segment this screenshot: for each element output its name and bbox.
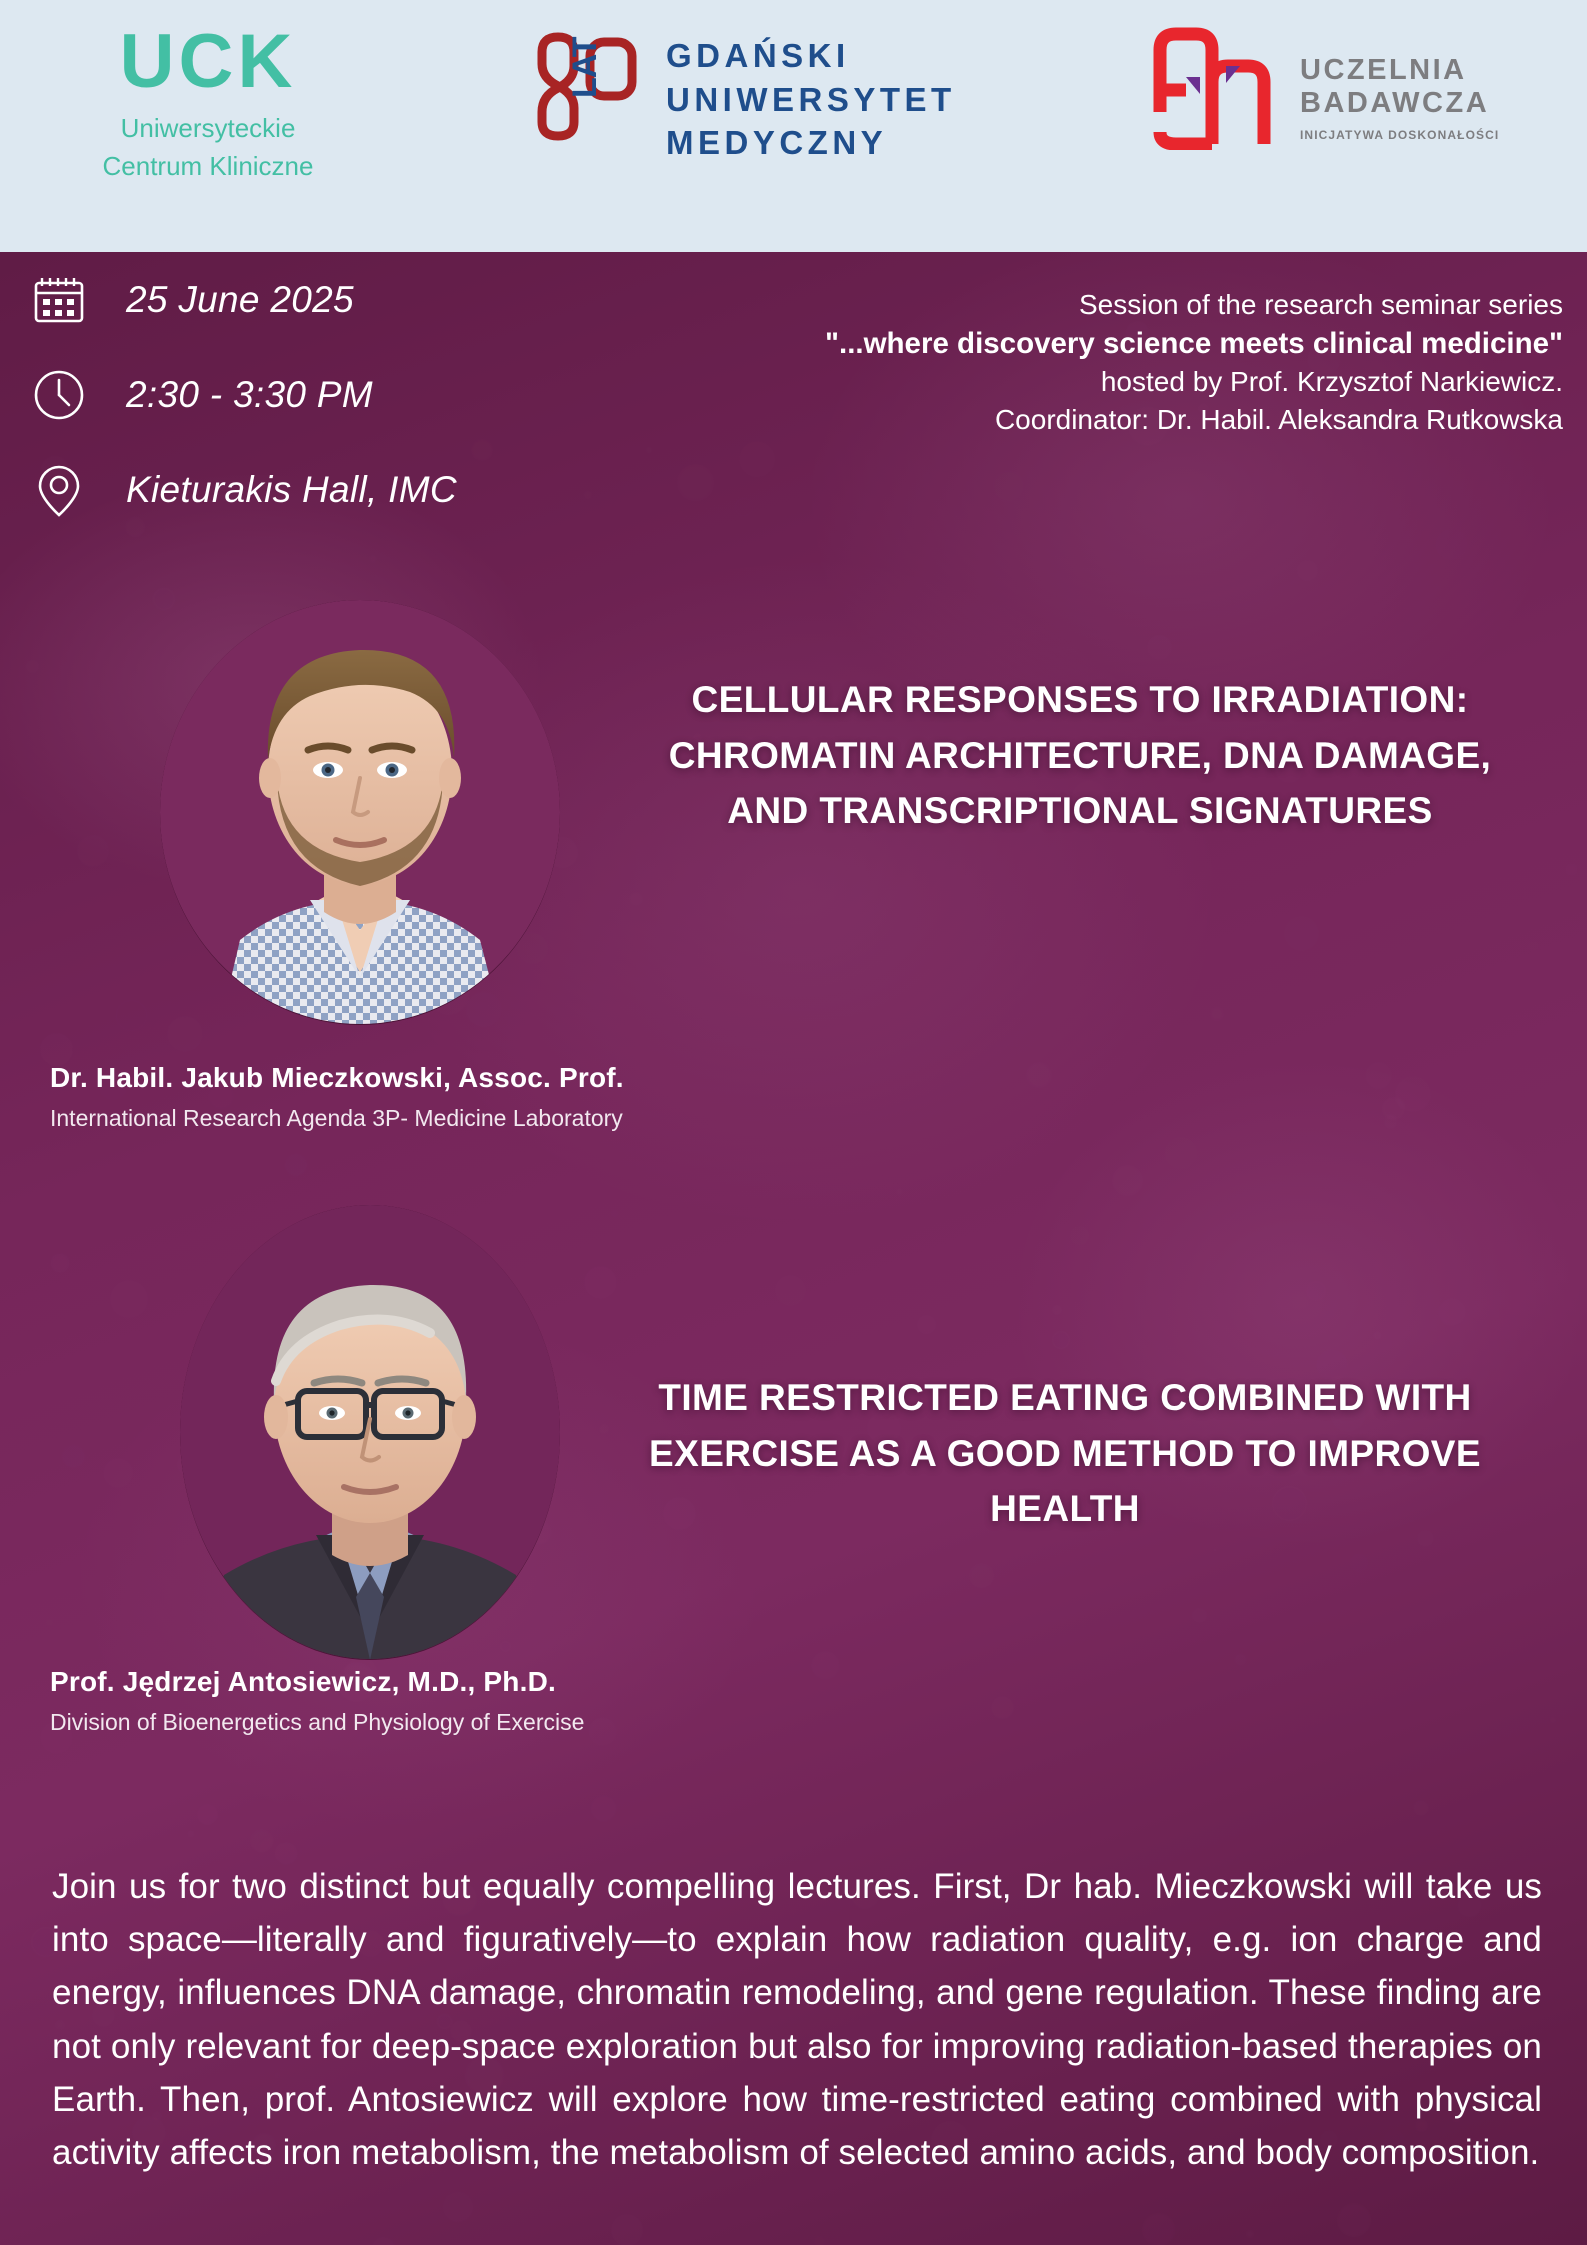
logo-gumed: LAT GDAŃSKI UNIWERSYTET MEDYCZNY — [528, 30, 956, 165]
uck-wordmark: UCK — [78, 26, 338, 98]
seminar-series-label: Session of the research seminar series — [613, 286, 1563, 324]
uck-subtitle: Uniwersyteckie Centrum Kliniczne — [78, 110, 338, 185]
seminar-poster: UCK Uniwersyteckie Centrum Kliniczne LAT… — [0, 0, 1587, 2245]
logo-header-band: UCK Uniwersyteckie Centrum Kliniczne LAT… — [0, 0, 1587, 252]
gumed-wordmark: GDAŃSKI UNIWERSYTET MEDYCZNY — [666, 34, 956, 165]
ub-line-2: BADAWCZA — [1300, 87, 1499, 120]
calendar-icon — [30, 271, 88, 329]
uczelnia-badawcza-text: UCZELNIA BADAWCZA INICJATYWA DOSKONAŁOŚC… — [1300, 54, 1499, 142]
abstract-paragraph: Join us for two distinct but equally com… — [52, 1860, 1542, 2179]
ub-line-1: UCZELNIA — [1300, 54, 1499, 87]
event-time: 2:30 - 3:30 PM — [126, 374, 373, 416]
event-location-row: Kieturakis Hall, IMC — [0, 442, 700, 537]
talk-1-title: CELLULAR RESPONSES TO IRRADIATION: CHROM… — [640, 672, 1520, 839]
uczelnia-badawcza-mark — [1148, 22, 1286, 147]
logo-uczelnia-badawcza: UCZELNIA BADAWCZA INICJATYWA DOSKONAŁOŚC… — [1148, 22, 1499, 147]
location-pin-icon — [30, 461, 88, 519]
event-date-row: 25 June 2025 — [0, 252, 700, 347]
seminar-series-tagline: "...where discovery science meets clinic… — [613, 324, 1563, 364]
gumed-lat-label: LAT — [566, 37, 605, 98]
event-location: Kieturakis Hall, IMC — [126, 469, 457, 511]
portrait-speaker-1 — [160, 600, 560, 1025]
clock-icon — [30, 366, 88, 424]
event-details: 25 June 2025 2:30 - 3:30 PM Kieturakis H… — [0, 252, 700, 537]
talk-1-speaker-affiliation: International Research Agenda 3P- Medici… — [50, 1105, 623, 1132]
seminar-series-info: Session of the research seminar series "… — [613, 286, 1563, 438]
logo-uck: UCK Uniwersyteckie Centrum Kliniczne — [78, 26, 338, 186]
talk-2-speaker-affiliation: Division of Bioenergetics and Physiology… — [50, 1709, 584, 1736]
ub-tagline: INICJATYWA DOSKONAŁOŚCI — [1300, 128, 1499, 142]
gumed-80-mark: LAT — [528, 30, 648, 140]
seminar-coordinator: Coordinator: Dr. Habil. Aleksandra Rutko… — [613, 401, 1563, 439]
event-date: 25 June 2025 — [126, 279, 354, 321]
seminar-host: hosted by Prof. Krzysztof Narkiewicz. — [613, 363, 1563, 401]
portrait-speaker-2 — [180, 1205, 560, 1660]
talk-1-speaker-name: Dr. Habil. Jakub Mieczkowski, Assoc. Pro… — [50, 1062, 624, 1094]
talk-2-speaker-name: Prof. Jędrzej Antosiewicz, M.D., Ph.D. — [50, 1666, 556, 1698]
event-time-row: 2:30 - 3:30 PM — [0, 347, 700, 442]
talk-2-title: TIME RESTRICTED EATING COMBINED WITH EXE… — [620, 1370, 1510, 1537]
